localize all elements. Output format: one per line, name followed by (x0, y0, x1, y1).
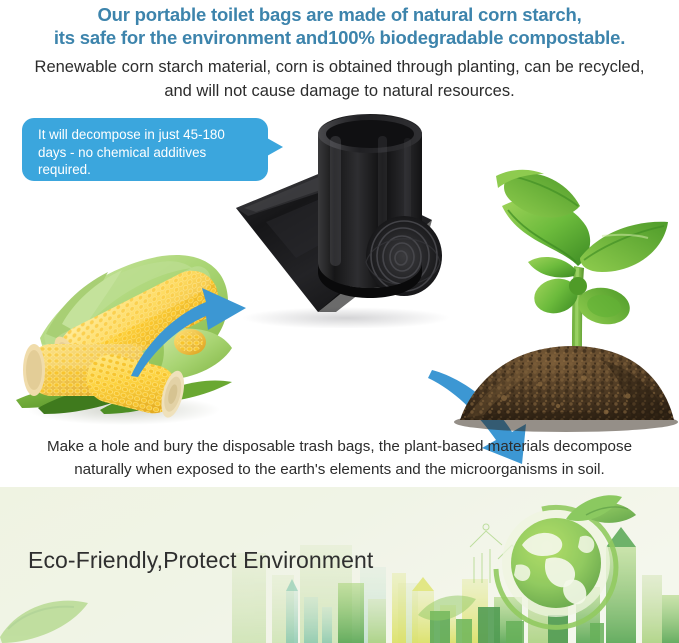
headline-line-2: its safe for the environment and100% bio… (0, 27, 679, 50)
decompose-callout-bubble: It will decompose in just 45-180 days - … (22, 118, 268, 181)
callout-text: It will decompose in just 45-180 days - … (38, 127, 225, 177)
seedling-in-soil-image (452, 154, 679, 434)
product-infographic: Our portable toilet bags are made of nat… (0, 0, 679, 643)
headline-line-1: Our portable toilet bags are made of nat… (0, 4, 679, 27)
bottom-caption-text: Make a hole and bury the disposable tras… (24, 435, 655, 481)
callout-bubble-tail (267, 138, 283, 156)
diagram-stage: It will decompose in just 45-180 days - … (0, 104, 679, 434)
page-headline: Our portable toilet bags are made of nat… (0, 4, 679, 49)
subtitle-text: Renewable corn starch material, corn is … (24, 55, 655, 103)
footer-tagline: Eco-Friendly,Protect Environment (28, 546, 373, 574)
